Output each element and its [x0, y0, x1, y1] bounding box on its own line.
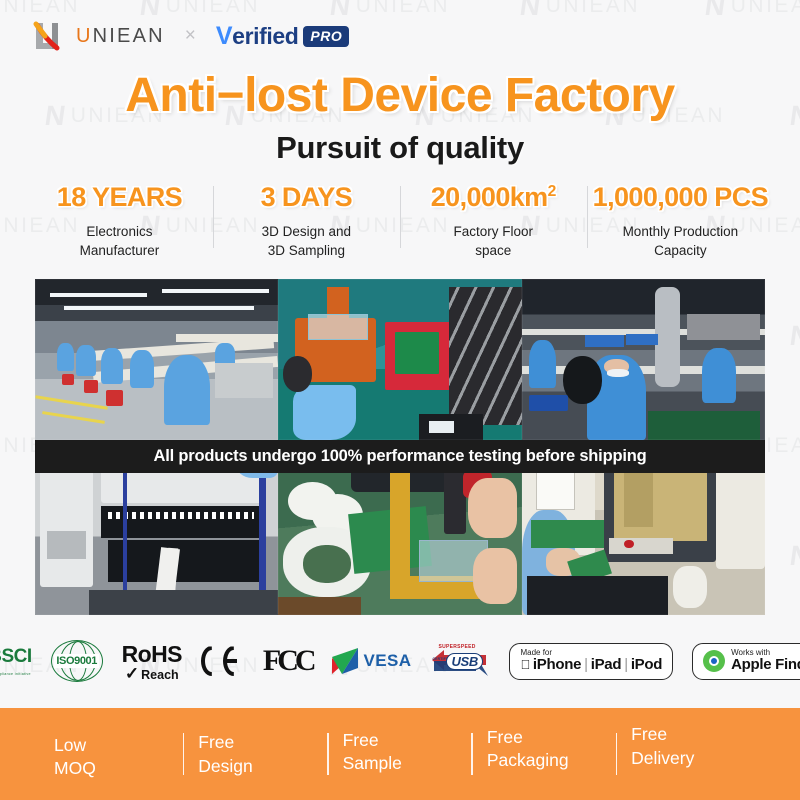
- footer-item-line1: Free: [198, 731, 327, 754]
- mfi-iphone-label: iPhone: [533, 657, 581, 673]
- mfi-separator-2: |: [624, 657, 628, 673]
- brand-name-rest: NIEAN: [93, 25, 165, 47]
- stat-number: 1,000,000 PCS: [593, 182, 768, 212]
- usb-label: USB: [446, 653, 483, 670]
- mfi-separator-1: |: [584, 657, 588, 673]
- mfi-ipad-label: iPad: [591, 657, 621, 673]
- stat-desc-line2: Manufacturer: [32, 241, 207, 261]
- fcc-badge: FCC: [263, 644, 313, 678]
- mfi-badge: Made for iPhone | iPad | iPod: [509, 643, 673, 680]
- vesa-badge: VESA: [332, 648, 412, 674]
- repair-bench-photo: [522, 279, 765, 440]
- footer-item-line1: Low: [54, 734, 183, 757]
- footer-item-line2: Packaging: [487, 749, 616, 772]
- reach-label: Reach: [141, 668, 179, 682]
- iso-label: ISO9001: [54, 654, 99, 668]
- ce-c-glyph: [201, 646, 222, 676]
- stat-desc-line2: Capacity: [593, 241, 768, 261]
- stat-value: 18 YEARS: [32, 182, 207, 213]
- stat-desc-line2: space: [406, 241, 581, 261]
- product-banner: UNIEAN × Verified PRO Anti−lost Device F…: [0, 0, 800, 800]
- usb-superspeed-label: SUPERSPEED: [438, 644, 475, 650]
- footer-item-free-sample: Free Sample: [329, 729, 472, 775]
- mfi-device-list: iPhone | iPad | iPod: [520, 657, 662, 673]
- page-subtitle: Pursuit of quality: [0, 130, 800, 166]
- stat-superscript: 2: [548, 183, 556, 200]
- pro-label: PRO: [303, 26, 349, 47]
- footer-item-line2: Delivery: [631, 747, 760, 770]
- rohs-badge: RoHS ✓ Reach: [122, 641, 182, 681]
- certification-strip: BSCI Business Social Compliance Initiati…: [0, 615, 800, 708]
- stat-desc-line1: 3D Design and: [219, 222, 394, 242]
- stat-item-days: 3 DAYS 3D Design and 3D Sampling: [213, 182, 400, 261]
- mfi-ipod-label: iPod: [631, 657, 662, 673]
- fcc-label: FCC: [263, 644, 313, 678]
- stat-item-floor-space: 20,000km2 Factory Floor space: [400, 182, 587, 261]
- verified-word-rest: erified: [232, 23, 298, 50]
- check-icon: ✓: [125, 666, 139, 681]
- usb-badge: SUPERSPEED CERTIFIED USB: [430, 644, 490, 678]
- stat-value: 3 DAYS: [219, 182, 394, 213]
- vesa-label: VESA: [364, 651, 412, 671]
- stat-description: Electronics Manufacturer: [32, 222, 207, 261]
- iso9001-badge: ISO9001: [51, 640, 103, 682]
- stat-description: 3D Design and 3D Sampling: [219, 222, 394, 261]
- stat-number: 3 DAYS: [261, 182, 352, 212]
- stat-description: Monthly Production Capacity: [593, 222, 768, 261]
- findmy-label: Apple Find My: [731, 657, 800, 673]
- stat-item-capacity: 1,000,000 PCS Monthly Production Capacit…: [587, 182, 774, 261]
- title-block: Anti−lost Device Factory Pursuit of qual…: [0, 70, 800, 166]
- unican-n-logo-icon: [30, 19, 64, 53]
- vesa-check-icon: [332, 648, 358, 674]
- footer-item-line1: Free: [631, 723, 760, 746]
- footer-item-low-moq: Low MOQ: [40, 734, 183, 780]
- footer-item-line1: Free: [343, 729, 472, 752]
- bsci-label: BSCI: [0, 646, 32, 668]
- page-title: Anti−lost Device Factory: [0, 70, 800, 123]
- apple-logo-icon: : [520, 658, 529, 672]
- brand-name-initial: U: [76, 25, 93, 47]
- footer-item-free-delivery: Free Delivery: [617, 723, 760, 769]
- brand-name: UNIEAN: [76, 25, 165, 48]
- footer-item-line2: Design: [198, 755, 327, 778]
- verified-pro-badge: Verified PRO: [216, 22, 349, 51]
- service-footer-bar: Low MOQ Free Design Free Sample Free Pac…: [0, 708, 800, 800]
- stat-value: 1,000,000 PCS: [593, 182, 768, 213]
- footer-item-free-packaging: Free Packaging: [473, 726, 616, 772]
- bsci-badge: BSCI Business Social Compliance Initiati…: [0, 646, 32, 676]
- footer-item-line2: Sample: [343, 752, 472, 775]
- stat-description: Factory Floor space: [406, 222, 581, 261]
- ce-mark-icon: [201, 646, 244, 676]
- stat-item-years: 18 YEARS Electronics Manufacturer: [26, 182, 213, 261]
- footer-item-free-design: Free Design: [184, 731, 327, 777]
- stat-value: 20,000km2: [406, 182, 581, 213]
- assembly-line-photo: [35, 279, 278, 440]
- stat-desc-line1: Factory Floor: [406, 222, 581, 242]
- findmy-badge: Works with Apple Find My: [692, 643, 800, 680]
- stat-desc-line1: Monthly Production: [593, 222, 768, 242]
- verified-check-icon: V: [216, 22, 232, 51]
- brand-bar: UNIEAN × Verified PRO: [0, 0, 800, 72]
- stat-desc-line1: Electronics: [32, 222, 207, 242]
- stat-number: 18 YEARS: [57, 182, 182, 212]
- footer-item-line2: MOQ: [54, 757, 183, 780]
- footer-item-line1: Free: [487, 726, 616, 749]
- brand-separator-icon: ×: [185, 25, 196, 47]
- gallery-caption-bar: All products undergo 100% performance te…: [35, 440, 765, 473]
- gallery-caption-text: All products undergo 100% performance te…: [154, 447, 647, 466]
- pcb-assembly-photo: [278, 279, 521, 440]
- ce-badge: [201, 646, 244, 676]
- stat-desc-line2: 3D Sampling: [219, 241, 394, 261]
- verified-label: Verified: [216, 22, 299, 51]
- find-my-icon: [703, 650, 725, 672]
- factory-photo-gallery: All products undergo 100% performance te…: [35, 279, 765, 615]
- ce-e-glyph: [223, 646, 244, 676]
- stats-row: 18 YEARS Electronics Manufacturer 3 DAYS…: [0, 182, 800, 261]
- stat-number: 20,000km: [431, 182, 548, 212]
- bsci-sublabel: Business Social Compliance Initiative: [0, 672, 31, 676]
